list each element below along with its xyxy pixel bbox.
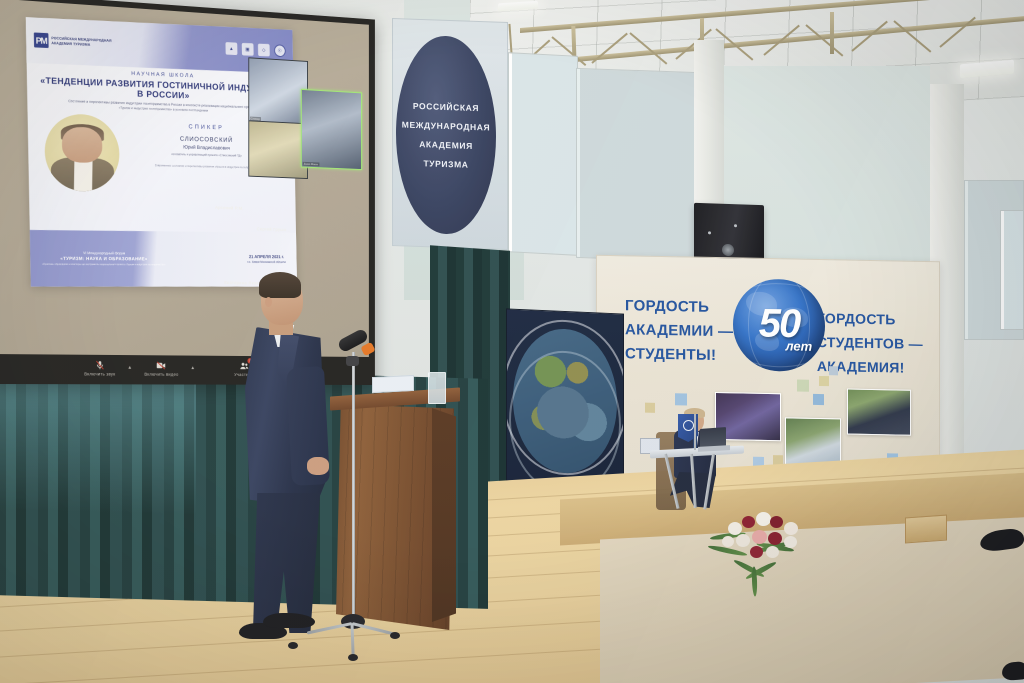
standing-speaker <box>243 275 335 650</box>
zoom-mute-label: Включить звук <box>84 371 115 376</box>
zoom-tile-3[interactable] <box>248 120 308 180</box>
stage-step-box <box>905 515 947 544</box>
sign-line-2: МЕЖДУНАРОДНАЯ <box>402 119 490 132</box>
microphone-stand-foot <box>390 632 400 639</box>
rmat-logo: РМ РОССИЙСКАЯ МЕЖДУНАРОДНАЯ АКАДЕМИЯ ТУР… <box>34 33 112 51</box>
video-stopped-icon <box>156 360 166 371</box>
microphone-clip <box>346 356 359 366</box>
microphone-muted-icon <box>95 359 105 370</box>
sign-line-3: АКАДЕМИЯ <box>419 139 473 151</box>
zoom-tile-2[interactable]: Zoom Room <box>301 89 362 171</box>
rmat-logo-mark: РМ <box>34 33 49 49</box>
speaker-shoe-right <box>263 613 315 628</box>
logo-word: лет <box>785 338 812 354</box>
window-far-right <box>1000 210 1024 330</box>
slide-footer-left: VI Международный форум «ТУРИЗМ: НАУКА И … <box>42 251 166 266</box>
forum-small-note: «Практика, образование и кластеры как ин… <box>42 263 165 267</box>
podium-side-panel <box>432 408 456 622</box>
speaker-trousers <box>253 493 323 633</box>
speaker-cone-icon <box>722 244 734 256</box>
anniversary-globe-logo: 50 лет <box>733 278 825 372</box>
banner-left-line-1: ГОРДОСТЬ <box>625 294 733 320</box>
pa-speaker-box <box>694 203 764 263</box>
forum-name: «ТУРИЗМ: НАУКА И ОБРАЗОВАНИЕ» <box>42 256 165 262</box>
window-blinds-left <box>508 52 578 256</box>
rmat-logo-text: РОССИЙСКАЯ МЕЖДУНАРОДНАЯ АКАДЕМИЯ ТУРИЗМ… <box>52 37 112 49</box>
participant-name-2: Сергей Грушо... <box>257 227 362 235</box>
podium-name-card <box>372 375 414 393</box>
partner-logo-2-icon: ▣ <box>242 44 254 57</box>
flag-pole <box>694 414 696 450</box>
banner-right-line-2: СТУДЕНТОВ — <box>817 330 923 356</box>
partner-logo-4-icon: ☉ <box>274 45 286 58</box>
water-glass <box>428 372 446 404</box>
banner-left-line-3: СТУДЕНТЫ! <box>625 342 733 368</box>
flag-emblem-icon <box>683 420 694 431</box>
conference-hall-photo: РОССИЙСКАЯ МЕЖДУНАРОДНАЯ АКАДЕМИЯ ТУРИЗМ… <box>0 0 1024 683</box>
banner-left-line-2: АКАДЕМИИ — <box>625 318 733 344</box>
microphone-stand-pole <box>352 352 355 620</box>
banner-left-text: ГОРДОСТЬ АКАДЕМИИ — СТУДЕНТЫ! <box>625 294 733 368</box>
microphone-stand-foot <box>288 642 298 649</box>
banner-right-line-1: ГОРДОСТЬ <box>817 306 923 332</box>
window-blinds-center <box>576 68 698 262</box>
zoom-video-label: Включить видео <box>144 371 178 376</box>
zoom-gallery: Спикер Zoom Room <box>248 57 362 204</box>
speaker-ear <box>265 297 272 307</box>
sign-line-1: РОССИЙСКАЯ <box>413 100 479 112</box>
class-outdoor-photo <box>847 389 911 436</box>
partner-logo-3-icon: ◇ <box>258 44 270 57</box>
speaker-portrait-photo <box>45 114 121 193</box>
video-chevron-up-icon[interactable]: ▲ <box>190 365 195 371</box>
flower-arrangement <box>706 500 832 572</box>
zoom-tile-2-name: Zoom Room <box>303 162 319 166</box>
speaker-hands <box>307 457 329 475</box>
speaker-hair <box>259 272 301 298</box>
partner-logo-1-icon: ▲ <box>226 43 238 56</box>
microphone-stand-foot <box>348 654 358 661</box>
zoom-video-button[interactable]: Включить видео <box>144 360 178 377</box>
zoom-mute-button[interactable]: Включить звук <box>84 359 115 376</box>
seated-moderator <box>668 410 728 506</box>
partner-logo-row: ▲ ▣ ◇ ☉ <box>226 43 286 58</box>
mute-chevron-up-icon[interactable]: ▲ <box>127 365 132 371</box>
zoom-tile-1[interactable]: Спикер <box>248 57 308 126</box>
sign-line-4: ТУРИЗМА <box>423 158 468 170</box>
